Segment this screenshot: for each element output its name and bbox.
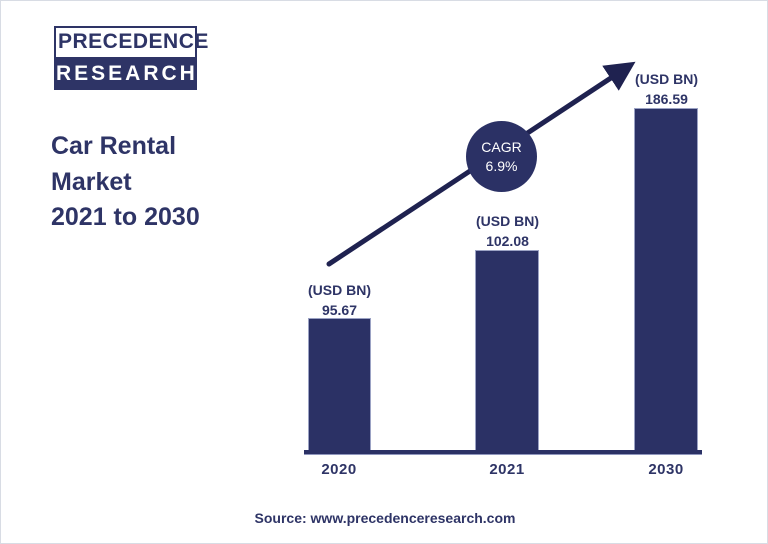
bar-unit-2021: (USD BN)	[447, 211, 568, 231]
bar-number-2020: 95.67	[279, 300, 400, 320]
source-text: Source: www.precedenceresearch.com	[1, 510, 768, 526]
cagr-badge: CAGR 6.9%	[466, 121, 537, 192]
bar-2030	[634, 108, 698, 451]
bar-number-2030: 186.59	[606, 89, 727, 109]
x-tick-2020: 2020	[299, 461, 379, 478]
x-tick-2030: 2030	[626, 461, 706, 478]
plot-area: (USD BN) 95.67 (USD BN) 102.08 (USD BN) …	[1, 1, 768, 544]
x-axis-line	[304, 450, 702, 455]
bar-number-2021: 102.08	[447, 231, 568, 251]
x-tick-2021: 2021	[467, 461, 547, 478]
bar-label-2020: (USD BN) 95.67	[279, 280, 400, 321]
bar-2021	[475, 250, 539, 451]
bar-label-2021: (USD BN) 102.08	[447, 211, 568, 252]
bar-unit-2020: (USD BN)	[279, 280, 400, 300]
cagr-label: CAGR	[481, 138, 521, 156]
bar-2020	[308, 318, 371, 451]
cagr-value: 6.9%	[486, 157, 518, 175]
bar-unit-2030: (USD BN)	[606, 69, 727, 89]
bar-label-2030: (USD BN) 186.59	[606, 69, 727, 110]
chart-canvas: PRECEDENCE RESEARCH Car Rental Market 20…	[0, 0, 768, 544]
